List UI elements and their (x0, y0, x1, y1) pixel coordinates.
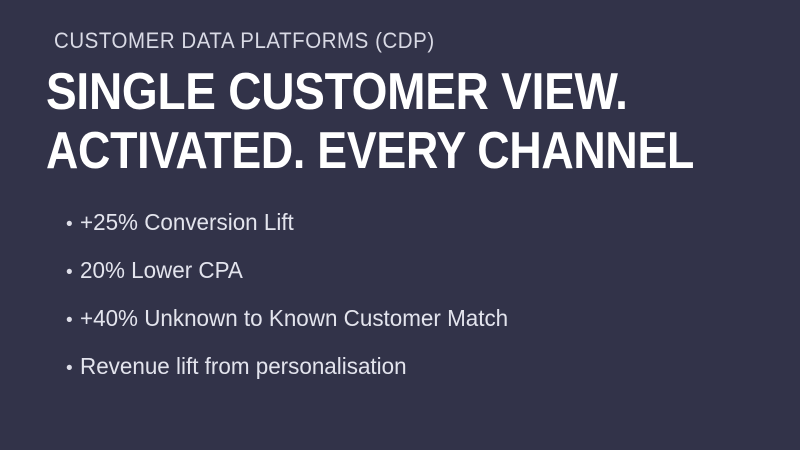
list-item-label: 20% Lower CPA (80, 246, 243, 294)
list-item-label: +40% Unknown to Known Customer Match (80, 294, 508, 342)
list-item: • +25% Conversion Lift (66, 198, 519, 246)
bullet-point-icon: • (66, 297, 80, 345)
list-item-label: Revenue lift from personalisation (80, 342, 407, 390)
bullet-point-icon: • (66, 249, 80, 297)
headline-line-1: SINGLE CUSTOMER VIEW. (46, 63, 708, 122)
list-item-label: +25% Conversion Lift (80, 198, 294, 246)
list-item: • +40% Unknown to Known Customer Match (66, 294, 519, 342)
list-item: • Revenue lift from personalisation (66, 342, 519, 390)
benefits-bullet-list: • +25% Conversion Lift • 20% Lower CPA •… (66, 198, 519, 390)
headline-line-2: ACTIVATED. EVERY CHANNEL (46, 122, 689, 181)
bullet-point-icon: • (66, 345, 80, 393)
slide-eyebrow-label: CUSTOMER DATA PLATFORMS (CDP) (54, 28, 435, 54)
bullet-point-icon: • (66, 201, 80, 249)
list-item: • 20% Lower CPA (66, 246, 519, 294)
slide-headline: SINGLE CUSTOMER VIEW. ACTIVATED. EVERY C… (46, 63, 794, 181)
presentation-slide: CUSTOMER DATA PLATFORMS (CDP) SINGLE CUS… (0, 0, 800, 450)
